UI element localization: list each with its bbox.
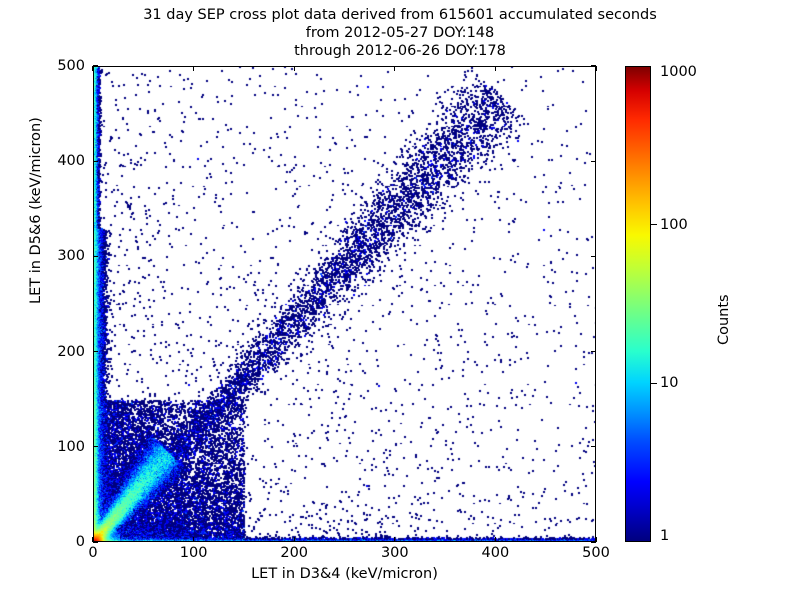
y-tick — [93, 65, 98, 66]
x-tick-top — [193, 66, 194, 71]
y-tick — [93, 256, 98, 257]
x-tick-label: 200 — [280, 545, 308, 561]
colorbar-tick-label: 1000 — [660, 64, 697, 80]
colorbar-tick — [651, 224, 657, 225]
y-tick-label: 400 — [37, 153, 85, 169]
chart-title: 31 day SEP cross plot data derived from … — [0, 6, 800, 60]
x-tick-top — [595, 66, 596, 71]
x-tick — [193, 537, 194, 542]
x-tick — [495, 537, 496, 542]
x-tick-top — [294, 66, 295, 71]
y-tick-right — [591, 65, 596, 66]
title-line-1: 31 day SEP cross plot data derived from … — [0, 6, 800, 24]
y-tick-label: 0 — [37, 534, 85, 550]
x-tick-label: 100 — [180, 545, 208, 561]
colorbar-tick-label: 10 — [660, 375, 678, 391]
y-tick-right — [591, 351, 596, 352]
colorbar-tick-label: 100 — [660, 217, 688, 233]
y-tick-right — [591, 541, 596, 542]
y-tick — [93, 446, 98, 447]
y-tick — [93, 351, 98, 352]
x-tick-top — [92, 66, 93, 71]
y-axis-label: LET in D5&6 (keV/micron) — [28, 117, 44, 304]
x-tick-label: 0 — [88, 545, 97, 561]
x-tick — [394, 537, 395, 542]
x-tick — [294, 537, 295, 542]
colorbar-tick — [651, 383, 657, 384]
y-tick-right — [591, 161, 596, 162]
plot-area — [93, 66, 596, 542]
x-tick-label: 500 — [582, 545, 610, 561]
colorbar-tick-label: 1 — [660, 528, 669, 544]
x-tick-top — [495, 66, 496, 71]
y-tick-label: 200 — [37, 344, 85, 360]
colorbar: 1101001000 — [625, 66, 651, 542]
y-tick-right — [591, 446, 596, 447]
colorbar-label: Counts — [716, 294, 732, 345]
y-tick-label: 100 — [37, 439, 85, 455]
chart-page: 31 day SEP cross plot data derived from … — [0, 0, 800, 600]
y-tick-label: 500 — [37, 58, 85, 74]
heatmap-canvas — [94, 67, 596, 542]
y-tick — [93, 541, 98, 542]
y-tick-right — [591, 256, 596, 257]
title-line-2: from 2012-05-27 DOY:148 — [0, 24, 800, 42]
x-tick-top — [394, 66, 395, 71]
title-line-3: through 2012-06-26 DOY:178 — [0, 42, 800, 60]
colorbar-gradient — [625, 66, 651, 542]
x-axis-label: LET in D3&4 (keV/micron) — [93, 566, 596, 582]
x-tick-label: 300 — [381, 545, 409, 561]
y-tick — [93, 161, 98, 162]
y-tick-label: 300 — [37, 248, 85, 264]
x-tick-label: 400 — [482, 545, 510, 561]
